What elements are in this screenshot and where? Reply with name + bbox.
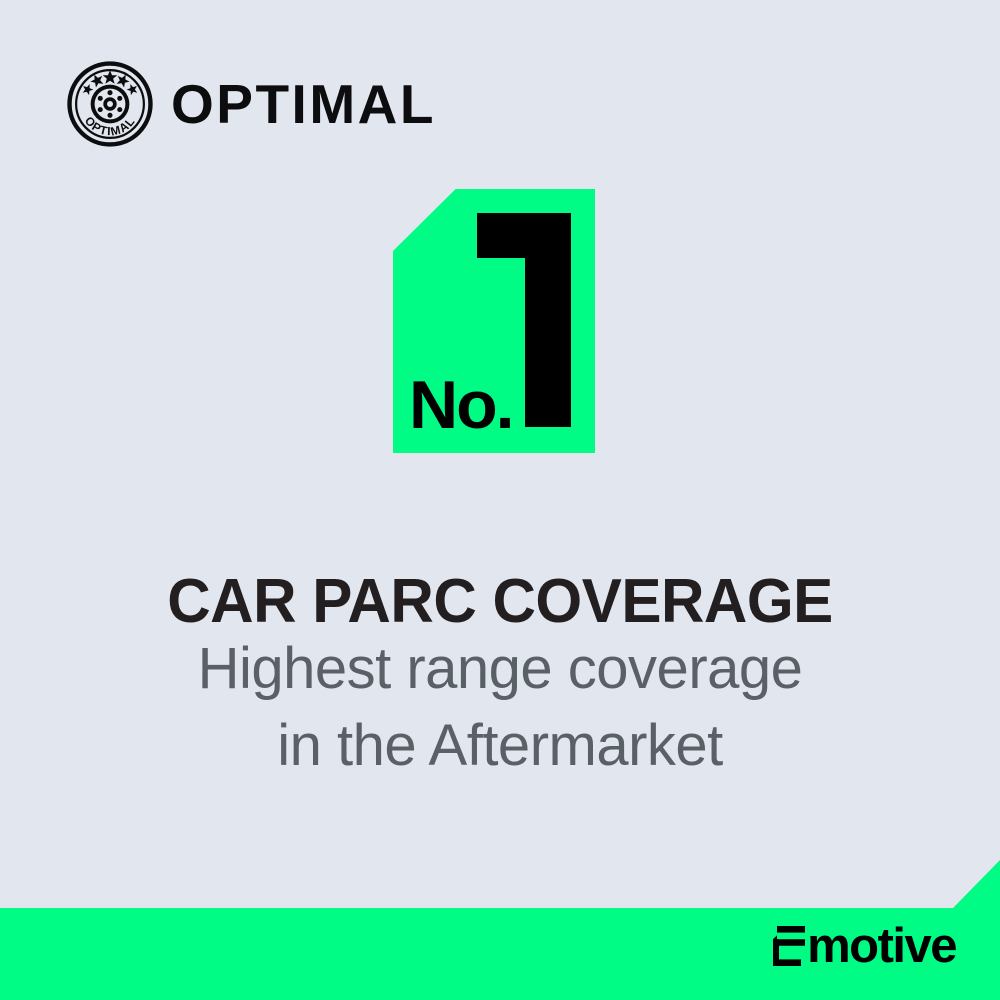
optimal-wordmark: OPTIMAL xyxy=(171,77,436,132)
page-subtitle: Highest range coverage in the Aftermarke… xyxy=(0,630,1000,784)
optimal-emblem-icon: OPTIMAL xyxy=(66,60,154,148)
numeral-one-flag xyxy=(477,213,525,258)
numeral-one-stem xyxy=(525,213,571,427)
emotive-logo: motive xyxy=(773,926,956,966)
promo-poster: OPTIMAL OPTIMAL No. CAR PARC COVERAGE xyxy=(0,0,1000,1000)
rank-badge: No. xyxy=(393,189,595,453)
emotive-wordmark: motive xyxy=(807,926,956,966)
subtitle-line-1: Highest range coverage xyxy=(0,630,1000,707)
subtitle-line-2: in the Aftermarket xyxy=(0,707,1000,784)
badge-prefix-label: No. xyxy=(409,371,513,439)
optimal-brand-lockup: OPTIMAL OPTIMAL xyxy=(66,60,436,148)
emotive-e-icon xyxy=(773,926,805,966)
page-title: CAR PARC COVERAGE xyxy=(15,569,985,634)
